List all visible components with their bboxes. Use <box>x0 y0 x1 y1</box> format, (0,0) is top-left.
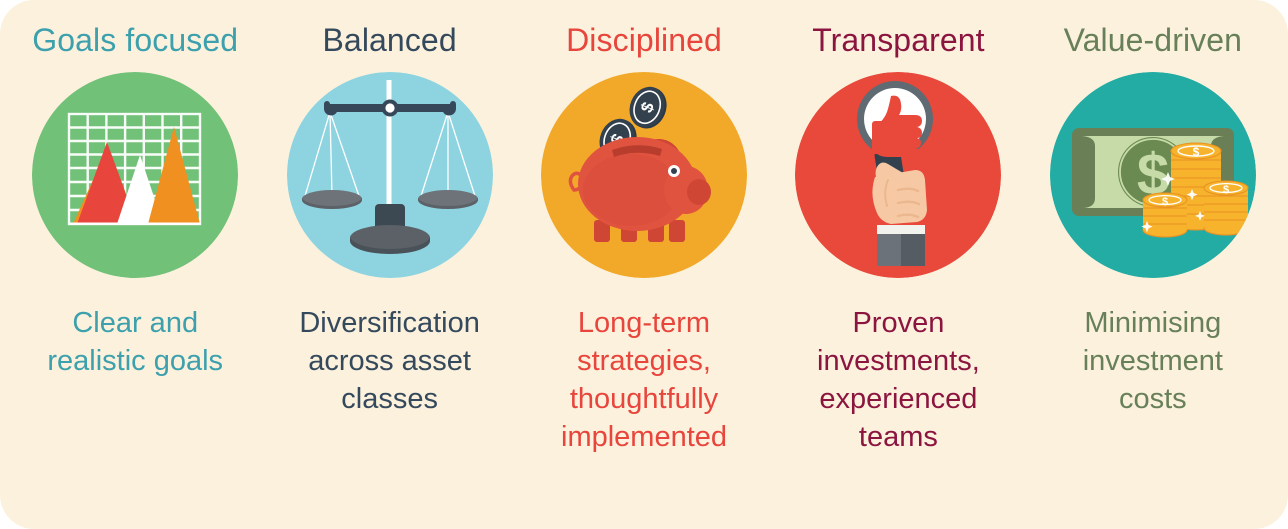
pillar-title: Transparent <box>812 16 984 64</box>
pillar-caption: Long-term strategies, thoughtfully imple… <box>561 304 727 456</box>
caption-line: investments, <box>817 345 980 377</box>
pillar-caption: Minimising investment costs <box>1083 304 1223 418</box>
bar-chart-icon <box>32 72 238 278</box>
pillar-value-driven: Value-driven $ <box>1026 16 1280 519</box>
svg-text:$: $ <box>1223 184 1229 196</box>
caption-line: teams <box>859 421 938 453</box>
piggy-bank-icon: $ $ <box>541 72 747 278</box>
cash-and-coins-icon: $ $ <box>1050 72 1256 278</box>
pillar-title: Disciplined <box>566 16 722 64</box>
pillar-goals-focused: Goals focused <box>8 16 262 519</box>
pillar-title: Goals focused <box>32 16 238 64</box>
pillar-disciplined: Disciplined $ $ <box>517 16 771 519</box>
pillar-caption: Diversification across asset classes <box>299 304 480 418</box>
caption-line: Clear and <box>72 307 198 339</box>
caption-line: implemented <box>561 421 727 453</box>
caption-line: across asset <box>308 345 471 377</box>
caption-line: classes <box>341 383 438 415</box>
pillar-caption: Clear and realistic goals <box>47 304 223 380</box>
caption-line: thoughtfully <box>570 383 718 415</box>
coin-stack-right: $ <box>1204 181 1248 235</box>
caption-line: Proven <box>852 307 944 339</box>
svg-text:$: $ <box>1162 196 1168 208</box>
pillar-caption: Proven investments, experienced teams <box>817 304 980 456</box>
caption-line: Minimising <box>1084 307 1221 339</box>
pillar-row: Goals focused <box>0 0 1288 529</box>
svg-text:$: $ <box>1192 145 1199 159</box>
caption-line: strategies, <box>577 345 711 377</box>
caption-line: Long-term <box>578 307 710 339</box>
pillar-transparent: Transparent <box>771 16 1025 519</box>
caption-line: costs <box>1119 383 1187 415</box>
caption-line: experienced <box>819 383 977 415</box>
infographic-card: Goals focused <box>0 0 1288 529</box>
pillar-title: Balanced <box>322 16 456 64</box>
pillar-balanced: Balanced <box>262 16 516 519</box>
pillar-title: Value-driven <box>1064 16 1242 64</box>
caption-line: investment <box>1083 345 1223 377</box>
caption-line: Diversification <box>299 307 480 339</box>
magnifier-thumbs-up-icon <box>795 72 1001 278</box>
caption-line: realistic goals <box>47 345 223 377</box>
coin-stack-front: $ <box>1143 193 1187 237</box>
balance-scale-icon <box>287 72 493 278</box>
